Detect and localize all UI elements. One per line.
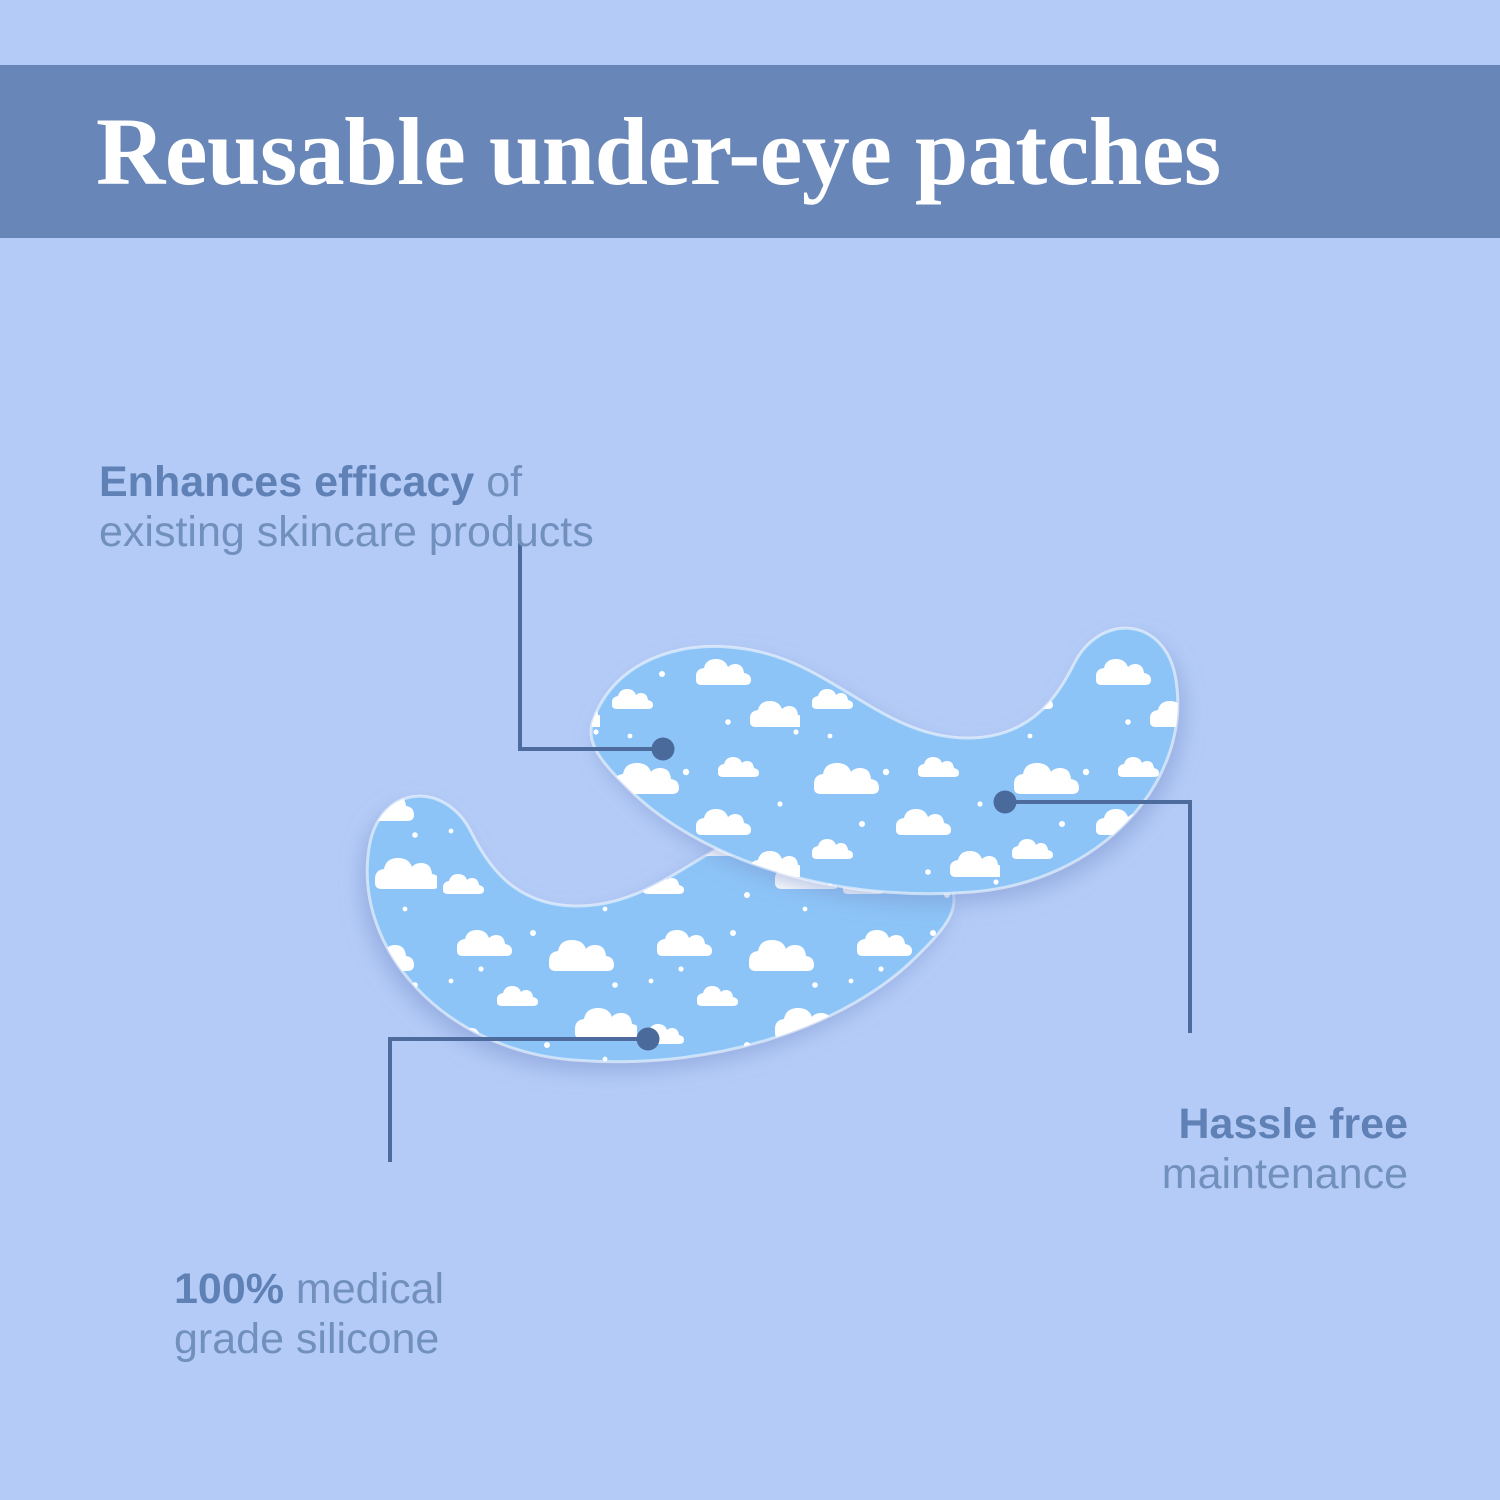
leader-silicone-dot bbox=[637, 1028, 660, 1051]
leader-hassle-dot bbox=[994, 791, 1017, 814]
leader-efficacy-dot bbox=[652, 738, 675, 761]
patch-top-right-pattern bbox=[560, 600, 1220, 920]
callout-enhances-efficacy: Enhances efficacy of existing skincare p… bbox=[99, 406, 859, 558]
callout-silicone-bold: 100% bbox=[174, 1265, 284, 1313]
callout-hassle-regular: maintenance bbox=[1162, 1150, 1408, 1198]
infographic-canvas: Reusable under-eye patches bbox=[0, 0, 1500, 1500]
callout-medical-grade-silicone: 100% medical grade silicone bbox=[174, 1213, 874, 1365]
callout-hassle-free: Hassle free maintenance bbox=[708, 1048, 1408, 1200]
callout-efficacy-bold: Enhances efficacy bbox=[99, 458, 474, 506]
callout-hassle-bold: Hassle free bbox=[1179, 1100, 1409, 1148]
patch-top-right bbox=[560, 600, 1220, 920]
